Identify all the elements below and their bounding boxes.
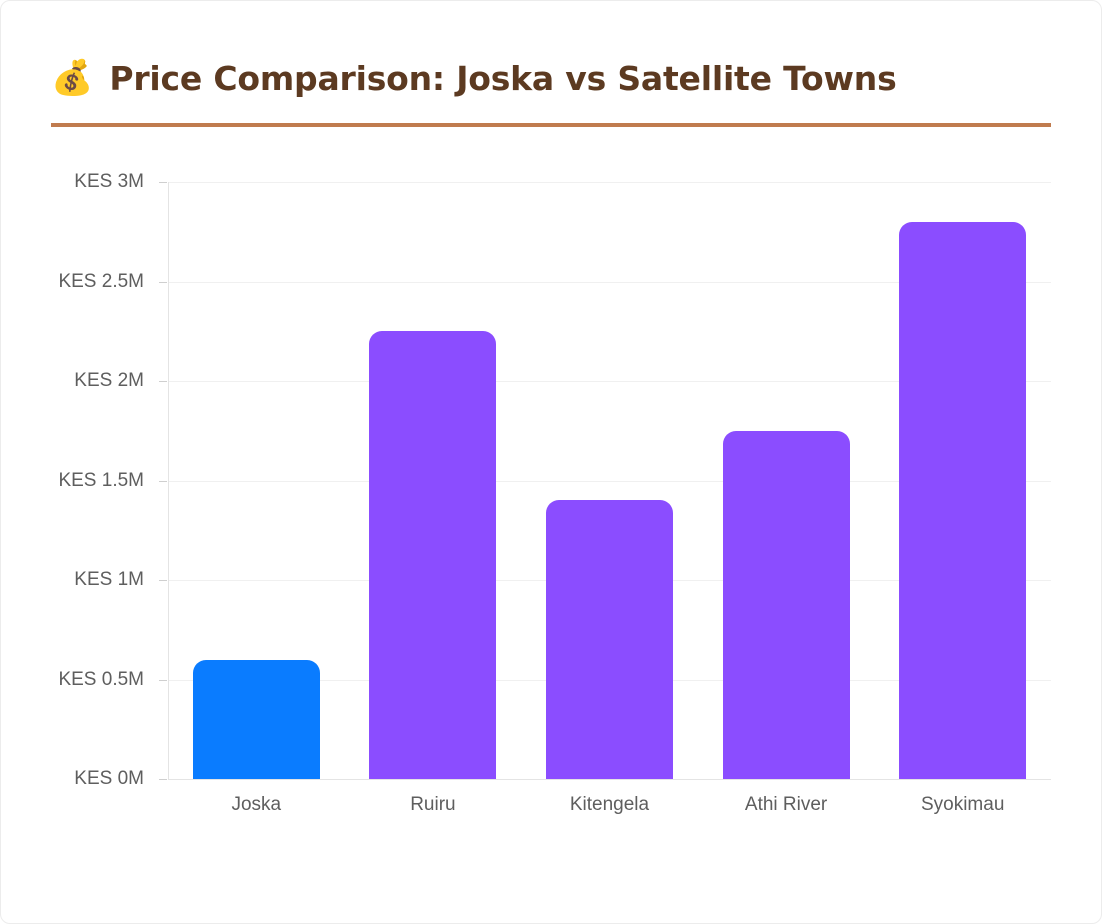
bar-kitengela[interactable]: [546, 500, 673, 779]
bar-slot[interactable]: [193, 182, 320, 779]
y-axis-tick-mark: [159, 580, 167, 581]
y-axis-tick-mark: [159, 680, 167, 681]
chart-page: 💰 Price Comparison: Joska vs Satellite T…: [0, 0, 1102, 924]
y-axis-tick-label: KES 0.5M: [1, 669, 144, 691]
x-axis-label-joska: Joska: [168, 794, 345, 816]
y-axis-tick-mark: [159, 779, 167, 780]
x-axis-label-athi-river: Athi River: [698, 794, 875, 816]
x-axis-label-ruiru: Ruiru: [345, 794, 522, 816]
y-axis-tick-mark: [159, 381, 167, 382]
bar-series: [168, 182, 1051, 779]
y-axis-tick-mark: [159, 481, 167, 482]
y-axis-tick-mark: [159, 182, 167, 183]
y-axis-tick-label: KES 1.5M: [1, 470, 144, 492]
bar-slot[interactable]: [723, 182, 850, 779]
bar-syokimau[interactable]: [899, 222, 1026, 779]
bar-joska[interactable]: [193, 660, 320, 779]
x-axis-label-group: JoskaRuiruKitengelaAthi RiverSyokimau: [168, 794, 1051, 828]
y-axis-tick-label: KES 1M: [1, 569, 144, 591]
y-axis-tick-mark: [159, 282, 167, 283]
y-axis-tick-label: KES 2.5M: [1, 271, 144, 293]
y-axis-tick-label: KES 0M: [1, 768, 144, 790]
y-axis-tick-label: KES 2M: [1, 370, 144, 392]
bar-ruiru[interactable]: [369, 331, 496, 779]
bar-slot[interactable]: [899, 182, 1026, 779]
bar-slot[interactable]: [369, 182, 496, 779]
bar-athi-river[interactable]: [723, 431, 850, 779]
bar-chart: KES 0MKES 0.5MKES 1MKES 1.5MKES 2MKES 2.…: [1, 1, 1102, 924]
x-axis-line: [168, 779, 1051, 780]
y-axis-tick-label: KES 3M: [1, 171, 144, 193]
x-axis-label-syokimau: Syokimau: [874, 794, 1051, 816]
bar-slot[interactable]: [546, 182, 673, 779]
x-axis-label-kitengela: Kitengela: [521, 794, 698, 816]
